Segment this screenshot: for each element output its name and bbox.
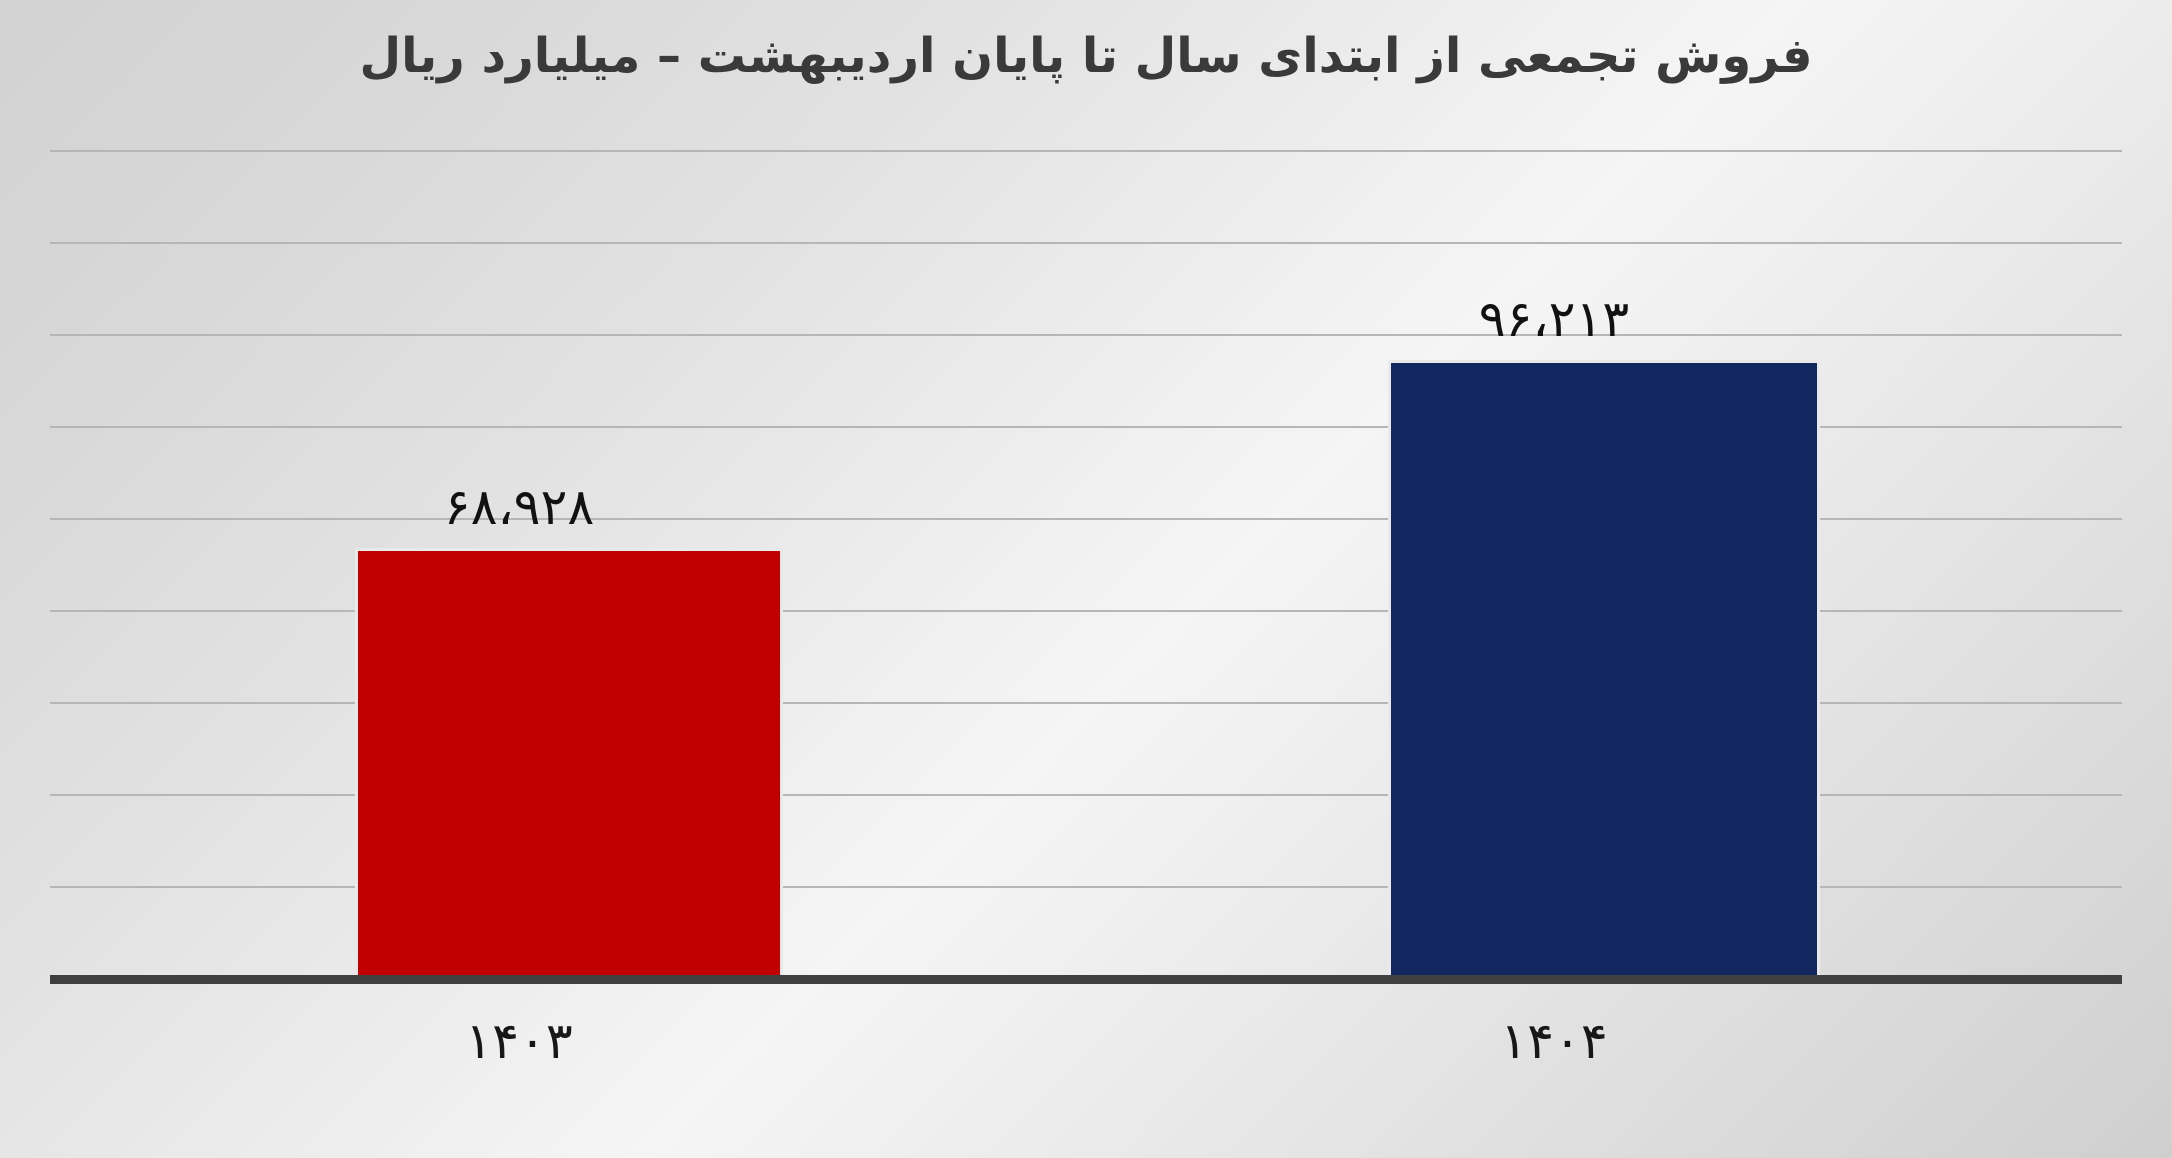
gridline xyxy=(50,242,2122,244)
chart-title: فروش تجمعی از ابتدای سال تا پایان اردیبه… xyxy=(0,26,2172,86)
category-label-1403: ۱۴۰۳ xyxy=(339,1012,699,1070)
gridline xyxy=(50,334,2122,336)
chart-container: فروش تجمعی از ابتدای سال تا پایان اردیبه… xyxy=(0,0,2172,1158)
data-label-1404: ۹۶،۲۱۳ xyxy=(1324,290,1784,348)
bar-1403[interactable] xyxy=(355,548,783,978)
plot-area xyxy=(50,150,2122,978)
category-axis-line xyxy=(50,975,2122,984)
category-label-1404: ۱۴۰۴ xyxy=(1374,1012,1734,1070)
data-label-1403: ۶۸،۹۲۸ xyxy=(289,478,749,536)
gridline xyxy=(50,150,2122,152)
bar-1404[interactable] xyxy=(1388,360,1820,978)
